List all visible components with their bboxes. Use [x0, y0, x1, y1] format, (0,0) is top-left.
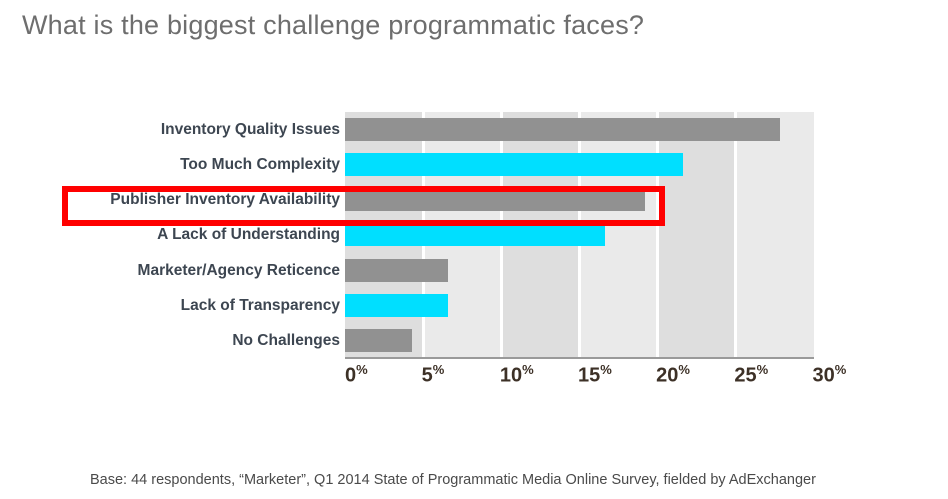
- percent-sign: %: [835, 362, 847, 377]
- bar-row: [345, 112, 814, 147]
- percent-sign: %: [356, 362, 368, 377]
- plot-area: [345, 112, 814, 358]
- bar-publisher-inventory-availability: [345, 188, 645, 211]
- x-tick-15-value: 15: [578, 365, 600, 387]
- x-tick-25-value: 25: [734, 365, 756, 387]
- category-label-inventory-quality-issues: Inventory Quality Issues: [10, 112, 340, 147]
- x-tick-25: 25%: [734, 362, 768, 388]
- percent-sign: %: [433, 362, 445, 377]
- x-tick-10: 10%: [500, 362, 534, 388]
- bar-row: [345, 147, 814, 182]
- bar-too-much-complexity: [345, 153, 683, 176]
- bar-lack-of-transparency: [345, 294, 448, 317]
- percent-sign: %: [522, 362, 534, 377]
- percent-sign: %: [600, 362, 612, 377]
- x-tick-5: 5%: [422, 362, 445, 388]
- category-label-marketer-agency-reticence: Marketer/Agency Reticence: [10, 253, 340, 288]
- percent-sign: %: [678, 362, 690, 377]
- category-label-lack-of-transparency: Lack of Transparency: [10, 288, 340, 323]
- x-axis-ticks: 0% 5% 10% 15% 20% 25% 30%: [345, 362, 905, 392]
- bar-a-lack-of-understanding: [345, 223, 605, 246]
- bar-marketer-agency-reticence: [345, 259, 448, 282]
- x-tick-10-value: 10: [500, 365, 522, 387]
- category-label-too-much-complexity: Too Much Complexity: [10, 147, 340, 182]
- bar-row: [345, 217, 814, 252]
- x-axis-line: [345, 357, 814, 359]
- x-tick-0-value: 0: [345, 365, 356, 387]
- category-label-a-lack-of-understanding: A Lack of Understanding: [10, 217, 340, 252]
- category-label-no-challenges: No Challenges: [10, 323, 340, 358]
- x-tick-20-value: 20: [656, 365, 678, 387]
- chart-footnote: Base: 44 respondents, “Marketer”, Q1 201…: [90, 472, 816, 488]
- bar-row: [345, 253, 814, 288]
- category-axis: Inventory Quality Issues Too Much Comple…: [5, 112, 340, 358]
- bar-row: [345, 182, 814, 217]
- bar-no-challenges: [345, 329, 412, 352]
- x-tick-0: 0%: [345, 362, 368, 388]
- category-label-publisher-inventory-availability: Publisher Inventory Availability: [10, 182, 340, 217]
- bar-row: [345, 288, 814, 323]
- x-tick-5-value: 5: [422, 365, 433, 387]
- x-tick-30: 30%: [813, 362, 847, 388]
- page-title: What is the biggest challenge programmat…: [22, 10, 644, 41]
- x-tick-20: 20%: [656, 362, 690, 388]
- bar-inventory-quality-issues: [345, 118, 780, 141]
- percent-sign: %: [757, 362, 769, 377]
- x-tick-30-value: 30: [813, 365, 835, 387]
- x-tick-15: 15%: [578, 362, 612, 388]
- bar-row: [345, 323, 814, 358]
